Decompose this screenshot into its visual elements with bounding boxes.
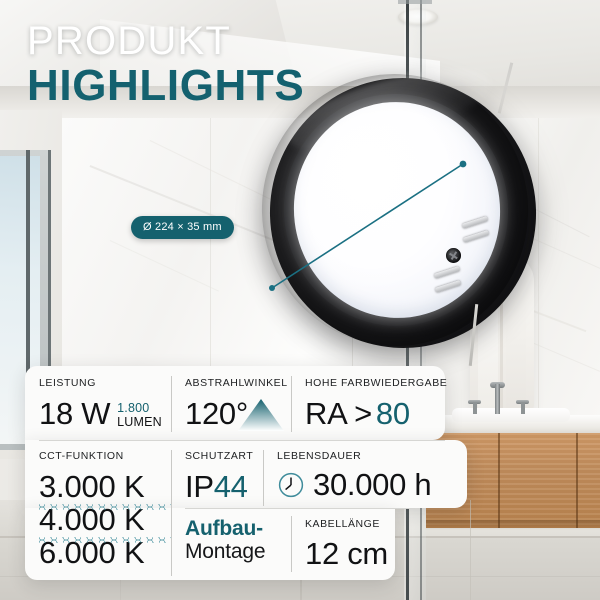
floor-grout-line (470, 500, 471, 600)
spec-panel: LEISTUNG 18 W1.800LUMEN ABSTRAHLWINKEL 1… (25, 366, 467, 580)
spec-cable: KABELLÄNGE 12 cm (305, 518, 388, 569)
spec-cri-value: 80 (376, 396, 410, 431)
spec-power-caption: LEISTUNG (39, 377, 162, 389)
spec-protection-value: 44 (214, 469, 248, 504)
spec-mounting: Aufbau- Montage (185, 518, 265, 563)
beam-triangle-icon (237, 398, 285, 432)
divider (291, 376, 292, 432)
spec-power: LEISTUNG 18 W1.800LUMEN (39, 377, 162, 429)
spec-protection-caption: SCHUTZART (185, 450, 253, 462)
cabinet-seam (576, 433, 578, 528)
cct-wave-divider (39, 504, 171, 510)
spec-protection: SCHUTZART IP44 (185, 450, 253, 502)
spec-cri: HOHE FARBWIEDERGABE RA >80 (305, 377, 447, 429)
spec-lifetime-caption: LEBENSDAUER (277, 450, 431, 462)
spec-cable-caption: KABELLÄNGE (305, 518, 388, 530)
spec-power-value: 18 W (39, 396, 110, 431)
headline-line-1: PRODUKT (27, 22, 304, 61)
cabinet-seam (498, 433, 500, 528)
dimension-badge: Ø 224 × 35 mm (131, 216, 234, 239)
spec-cct: CCT-FUNKTION 3.000 K 4.000 K 6.000 K (39, 450, 144, 568)
divider (291, 516, 292, 572)
divider (171, 450, 172, 576)
spec-lumen-unit: LUMEN (117, 415, 162, 429)
spec-cri-prefix: RA > (305, 396, 372, 431)
tap-stem-left (473, 403, 477, 414)
spec-cri-caption: HOHE FARBWIEDERGABE (305, 377, 447, 389)
cct-wave-divider (39, 537, 171, 543)
sink-basin (452, 408, 570, 422)
spec-protection-prefix: IP (185, 469, 214, 504)
spec-cri-value-group: RA >80 (305, 398, 447, 429)
spec-protection-value-group: IP44 (185, 471, 253, 502)
tap-stem-right (521, 403, 525, 414)
spec-cable-value: 12 cm (305, 538, 388, 569)
spec-beam-angle-caption: ABSTRAHLWINKEL (185, 377, 288, 389)
clock-icon (277, 471, 305, 499)
spec-mounting-line-1: Aufbau- (185, 518, 265, 541)
spec-mounting-value-group: Aufbau- Montage (185, 518, 265, 563)
divider (263, 450, 264, 506)
spec-lumen: 1.800LUMEN (117, 402, 162, 429)
spec-lifetime-value-group: 30.000 h (277, 469, 431, 500)
spec-power-value-group: 18 W1.800LUMEN (39, 398, 162, 429)
divider (185, 508, 415, 509)
headline-line-2: HIGHLIGHTS (27, 64, 304, 107)
divider (39, 440, 445, 441)
spec-lifetime: LEBENSDAUER 30.000 h (277, 450, 431, 500)
divider (171, 376, 172, 432)
spec-beam-angle-value-group: 120° (185, 398, 288, 429)
spec-mounting-line-2: Montage (185, 541, 265, 564)
headline: PRODUKT HIGHLIGHTS (27, 22, 304, 107)
faucet (495, 384, 500, 414)
glass-top-rail (398, 0, 432, 4)
spec-cct-value-1: 3.000 K (39, 471, 144, 502)
spec-cct-caption: CCT-FUNKTION (39, 450, 144, 462)
spec-beam-angle: ABSTRAHLWINKEL 120° (185, 377, 288, 429)
spec-lumen-value: 1.800 (117, 401, 149, 415)
spec-lifetime-value: 30.000 h (313, 469, 431, 500)
product-highlight-image: PRODUKT HIGHLIGHTS Ø 224 × 35 mm LEISTUN… (0, 0, 600, 600)
